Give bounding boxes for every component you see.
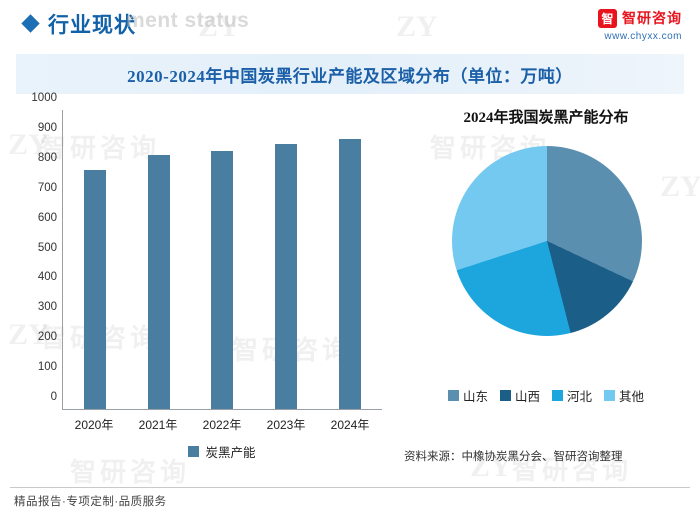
brand-name: 智研咨询: [622, 8, 682, 28]
x-tick-label: 2023年: [255, 416, 317, 433]
y-tick-label: 400: [38, 271, 57, 283]
y-tick-label: 800: [38, 152, 57, 164]
brand-url: www.chyxx.com: [598, 31, 682, 42]
source-note: 资料来源：中橡协炭黑分会、智研咨询整理: [404, 448, 623, 464]
bar-slot: [255, 110, 317, 409]
y-tick-label: 700: [38, 182, 57, 194]
x-tick-label: 2021年: [127, 416, 189, 433]
y-tick-label: 100: [38, 361, 57, 373]
x-tick-label: 2020年: [63, 416, 125, 433]
legend-label: 炭黑产能: [205, 442, 255, 461]
legend-swatch: [552, 390, 563, 401]
pie-legend-item: 山西: [500, 386, 540, 405]
legend-label: 河北: [567, 386, 592, 405]
pie-chart-legend: 山东山西河北其他: [408, 386, 684, 405]
legend-swatch: [448, 390, 459, 401]
bar: [339, 139, 361, 409]
footer-text: 精品报告·专项定制·品质服务: [14, 493, 167, 509]
bar: [84, 170, 106, 409]
bar-series: [63, 110, 382, 409]
y-tick-label: 600: [38, 212, 57, 224]
diamond-icon: [21, 14, 39, 32]
header-ghost-text: ment status: [126, 9, 249, 33]
legend-swatch: [500, 390, 511, 401]
brand-block: 智 智研咨询 www.chyxx.com: [598, 8, 682, 42]
y-tick-label: 0: [51, 391, 57, 403]
chart-title: 2020-2024年中国炭黑行业产能及区域分布（单位：万吨）: [127, 62, 573, 87]
pie-legend-item: 其他: [604, 386, 644, 405]
bar-chart-legend: 炭黑产能: [62, 442, 382, 461]
page-title: 行业现状: [48, 9, 136, 39]
bar-slot: [319, 110, 381, 409]
legend-swatch: [188, 446, 199, 457]
bar: [211, 151, 233, 409]
y-tick-label: 500: [38, 242, 57, 254]
y-tick-label: 900: [38, 122, 57, 134]
legend-label: 山西: [515, 386, 540, 405]
y-tick-label: 300: [38, 301, 57, 313]
y-tick-label: 1000: [31, 92, 57, 104]
bar-slot: [64, 110, 126, 409]
bar-slot: [128, 110, 190, 409]
chart-title-band: 2020-2024年中国炭黑行业产能及区域分布（单位：万吨）: [16, 54, 684, 94]
bar-slot: [191, 110, 253, 409]
pie-legend-item: 河北: [552, 386, 592, 405]
x-tick-label: 2022年: [191, 416, 253, 433]
page-header: 行业现状 ment status 智 智研咨询 www.chyxx.com: [0, 0, 700, 50]
y-tick-label: 200: [38, 331, 57, 343]
brand-logo-icon: 智: [598, 9, 617, 28]
bar: [148, 155, 170, 409]
legend-swatch: [604, 390, 615, 401]
footer-divider: [10, 487, 690, 488]
chart-card: 2020-2024年中国炭黑行业产能及区域分布（单位：万吨） 010020030…: [16, 54, 684, 479]
x-axis-labels: 2020年2021年2022年2023年2024年: [62, 416, 382, 433]
x-tick-label: 2024年: [319, 416, 381, 433]
legend-label: 山东: [463, 386, 488, 405]
bar: [275, 144, 297, 409]
bar-plot-area: 01002003004005006007008009001000: [62, 110, 382, 410]
pie-chart: 2024年我国炭黑产能分布 山东山西河北其他: [408, 102, 684, 472]
bar-chart: 01002003004005006007008009001000 2020年20…: [16, 102, 406, 472]
pie-legend-item: 山东: [448, 386, 488, 405]
pie-graphic: [452, 146, 642, 336]
legend-label: 其他: [619, 386, 644, 405]
pie-chart-title: 2024年我国炭黑产能分布: [408, 106, 684, 127]
